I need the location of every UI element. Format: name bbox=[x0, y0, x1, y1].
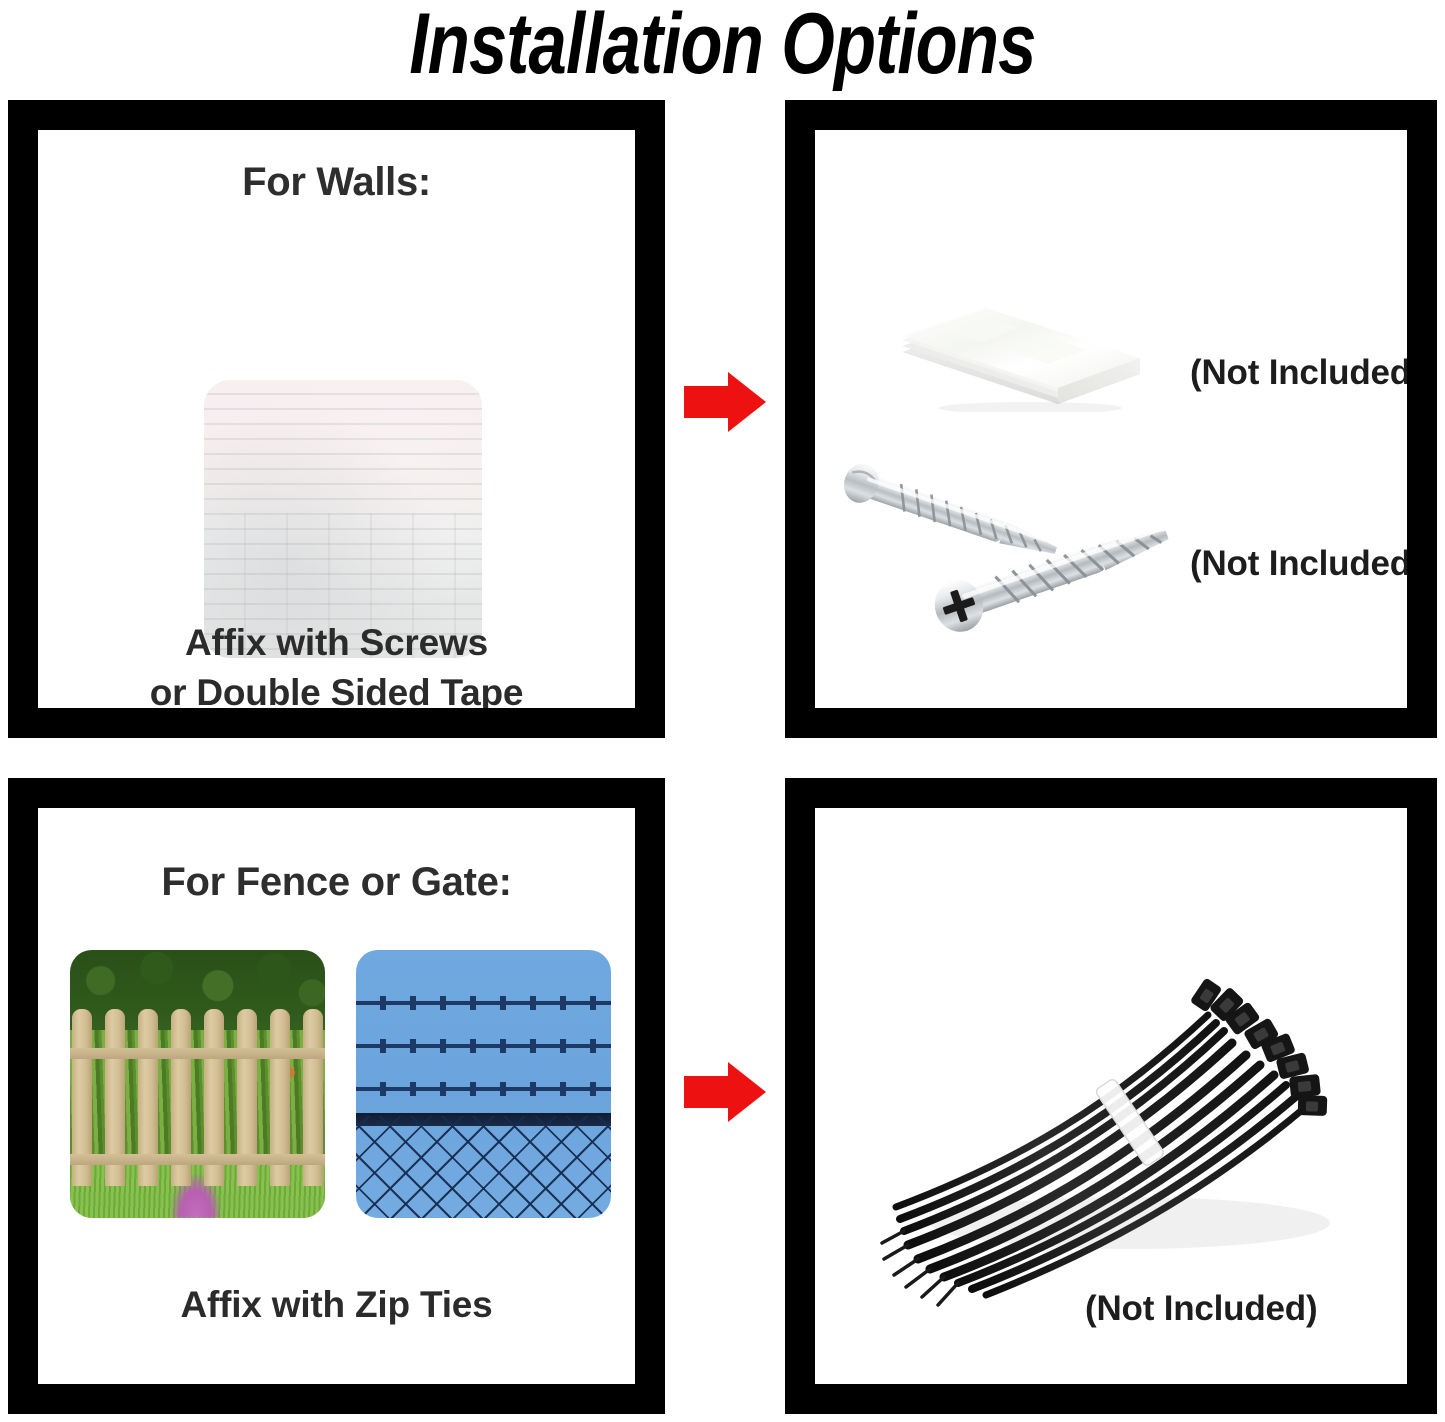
tape-not-included-label: (Not Included) bbox=[1190, 352, 1407, 394]
for-walls-caption-line1: Affix with Screws bbox=[38, 618, 635, 668]
red-right-arrow-icon bbox=[684, 1062, 766, 1122]
wooden-picket-fence-photo bbox=[70, 950, 325, 1218]
panel-wall-hardware-content: (Not Included) bbox=[815, 130, 1407, 708]
barbed-wire-strand bbox=[356, 1001, 611, 1005]
white-brick-wall-photo bbox=[204, 380, 482, 658]
for-walls-heading: For Walls: bbox=[38, 158, 635, 206]
fence-pickets bbox=[70, 1009, 325, 1186]
for-fence-caption: Affix with Zip Ties bbox=[38, 1280, 635, 1330]
double-sided-tape-stack-photo bbox=[890, 252, 1140, 412]
fence-rail-upper bbox=[70, 1048, 325, 1059]
barbed-wire-strand bbox=[356, 1044, 611, 1048]
panel-zip-ties-content: (Not Included) bbox=[815, 808, 1407, 1384]
chain-link-mesh bbox=[356, 1116, 611, 1218]
for-walls-caption-line2: or Double Sided Tape bbox=[38, 668, 635, 708]
fence-rail-lower bbox=[70, 1154, 325, 1165]
panel-wall-hardware: (Not Included) bbox=[785, 100, 1437, 738]
panel-for-walls-content: For Walls: Affix with Screws or Double S… bbox=[38, 130, 635, 708]
barbed-wire-strand bbox=[356, 1087, 611, 1091]
black-zip-ties-bundle-photo bbox=[880, 923, 1350, 1313]
chain-link-barbed-wire-fence-photo bbox=[356, 950, 611, 1218]
for-fence-heading: For Fence or Gate: bbox=[38, 858, 635, 906]
screws-not-included-label: (Not Included) bbox=[1190, 543, 1407, 585]
panel-zip-ties: (Not Included) bbox=[785, 778, 1437, 1414]
panel-for-walls: For Walls: Affix with Screws or Double S… bbox=[8, 100, 665, 738]
zip-ties-not-included-label: (Not Included) bbox=[1085, 1288, 1317, 1330]
red-right-arrow-icon bbox=[684, 372, 766, 432]
wood-screw-phillips-head-icon bbox=[925, 530, 1225, 650]
installation-options-infographic: Installation Options For Walls: Affix wi… bbox=[0, 0, 1445, 1422]
page-title: Installation Options bbox=[145, 0, 1301, 92]
